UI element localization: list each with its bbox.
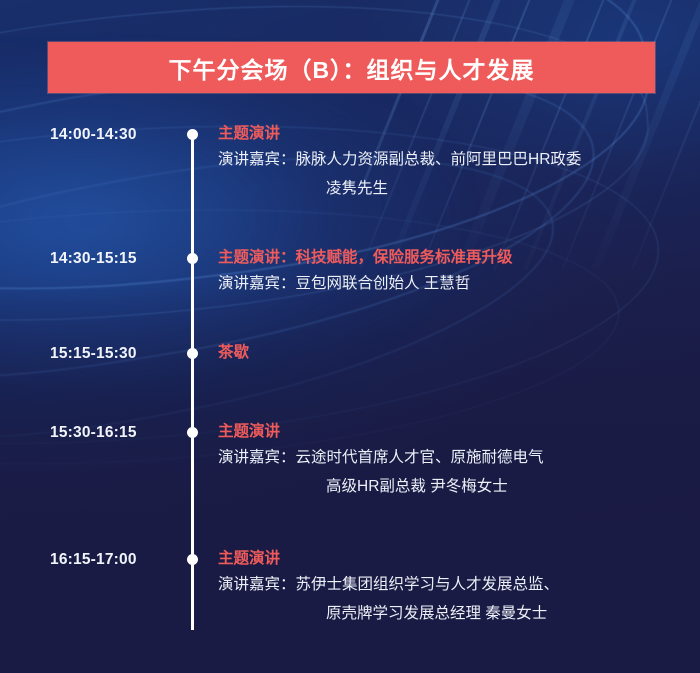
agenda-item-content: 主题演讲 演讲嘉宾：脉脉人力资源副总裁、前阿里巴巴HR政委 凌隽先生 <box>218 123 678 203</box>
agenda-timeline: 14:00-14:30 主题演讲 演讲嘉宾：脉脉人力资源副总裁、前阿里巴巴HR政… <box>0 0 700 673</box>
agenda-item-guest-cont: 凌隽先生 <box>218 174 678 203</box>
agenda-item-heading: 主题演讲 <box>218 548 678 570</box>
agenda-item-guest: 演讲嘉宾：苏伊士集团组织学习与人才发展总监、 <box>218 570 678 599</box>
agenda-item-heading: 主题演讲 <box>218 123 678 145</box>
agenda-item-time: 14:00-14:30 <box>50 126 184 144</box>
timeline-dot <box>187 427 199 439</box>
agenda-item-content: 茶歇 <box>218 342 678 364</box>
agenda-item-guest-cont: 原壳牌学习发展总经理 秦曼女士 <box>218 599 678 628</box>
agenda-item-heading: 主题演讲 <box>218 421 678 443</box>
agenda-item-content: 主题演讲：科技赋能，保险服务标准再升级 演讲嘉宾：豆包网联合创始人 王慧哲 <box>218 247 678 298</box>
agenda-item-guest: 演讲嘉宾：脉脉人力资源副总裁、前阿里巴巴HR政委 <box>218 145 678 174</box>
agenda-item-time: 14:30-15:15 <box>50 250 184 268</box>
agenda-item-content: 主题演讲 演讲嘉宾：云途时代首席人才官、原施耐德电气 高级HR副总裁 尹冬梅女士 <box>218 421 678 501</box>
agenda-item-time: 15:30-16:15 <box>50 424 184 442</box>
agenda-item-time: 16:15-17:00 <box>50 551 184 569</box>
timeline-dot <box>187 554 199 566</box>
agenda-item-time: 15:15-15:30 <box>50 345 184 363</box>
agenda-item-guest-cont: 高级HR副总裁 尹冬梅女士 <box>218 472 678 501</box>
agenda-item-content: 主题演讲 演讲嘉宾：苏伊士集团组织学习与人才发展总监、 原壳牌学习发展总经理 秦… <box>218 548 678 628</box>
agenda-poster: 下午分会场（B）：组织与人才发展 14:00-14:30 主题演讲 演讲嘉宾：脉… <box>0 0 700 673</box>
timeline-dot <box>187 129 199 141</box>
agenda-item-guest: 演讲嘉宾：云途时代首席人才官、原施耐德电气 <box>218 443 678 472</box>
timeline-dot <box>187 348 199 360</box>
agenda-item-heading: 茶歇 <box>218 342 678 364</box>
timeline-dot <box>187 253 199 265</box>
agenda-item-heading: 主题演讲：科技赋能，保险服务标准再升级 <box>218 247 678 269</box>
agenda-item-guest: 演讲嘉宾：豆包网联合创始人 王慧哲 <box>218 269 678 298</box>
